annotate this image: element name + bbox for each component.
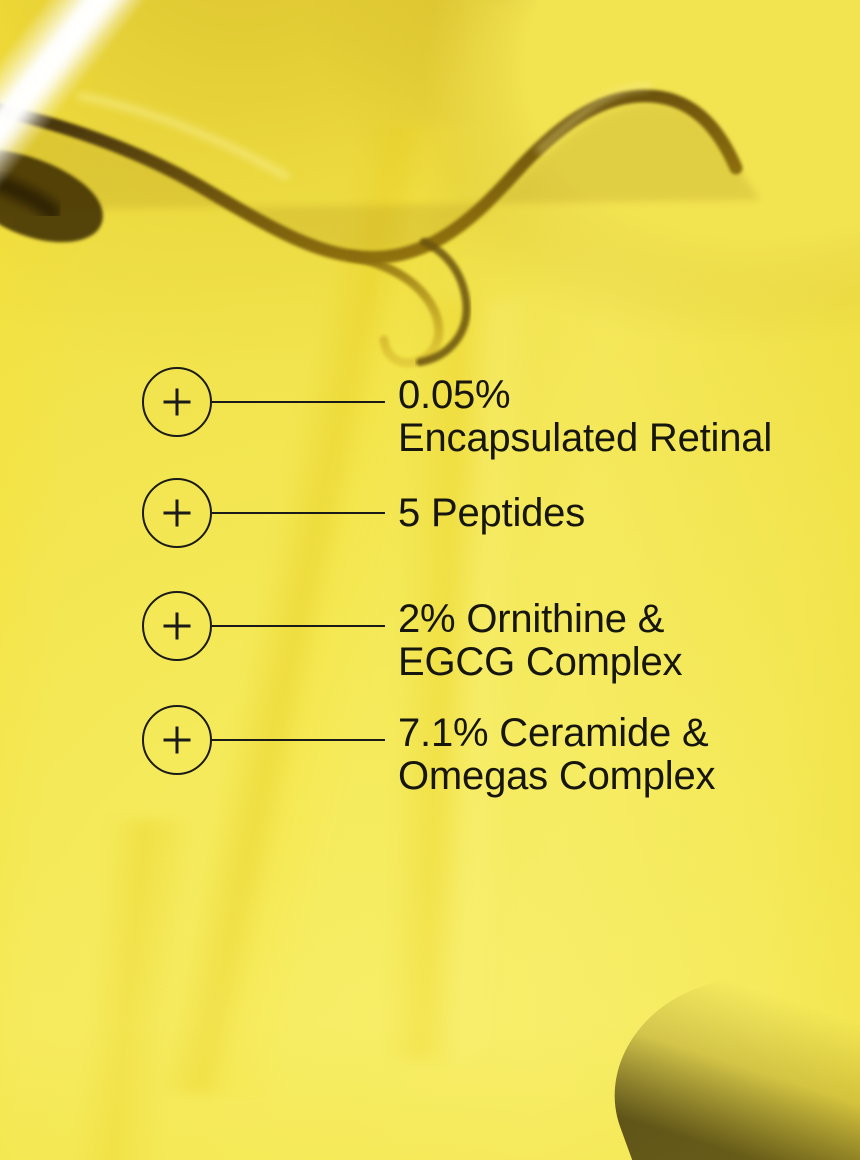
callout-node-1[interactable]	[142, 367, 212, 437]
ingredient-callout-image: 0.05% Encapsulated Retinal 5 Peptides 2%…	[0, 0, 860, 1160]
leader-line-3	[212, 625, 385, 628]
plus-icon	[164, 613, 191, 640]
callout-label-4: 7.1% Ceramide & Omegas Complex	[398, 712, 860, 798]
leader-line-1	[212, 401, 385, 404]
leader-line-2	[212, 512, 385, 515]
callout-label-3: 2% Ornithine & EGCG Complex	[398, 598, 860, 684]
plus-icon	[164, 500, 191, 527]
callout-node-4[interactable]	[142, 705, 212, 775]
plus-icon	[164, 389, 191, 416]
callout-node-2[interactable]	[142, 478, 212, 548]
callout-label-1: 0.05% Encapsulated Retinal	[398, 374, 860, 460]
leader-line-4	[212, 739, 385, 742]
callout-node-3[interactable]	[142, 591, 212, 661]
callout-label-2: 5 Peptides	[398, 492, 860, 535]
ingredient-callout-list: 0.05% Encapsulated Retinal 5 Peptides 2%…	[0, 0, 860, 1160]
plus-icon	[164, 727, 191, 754]
